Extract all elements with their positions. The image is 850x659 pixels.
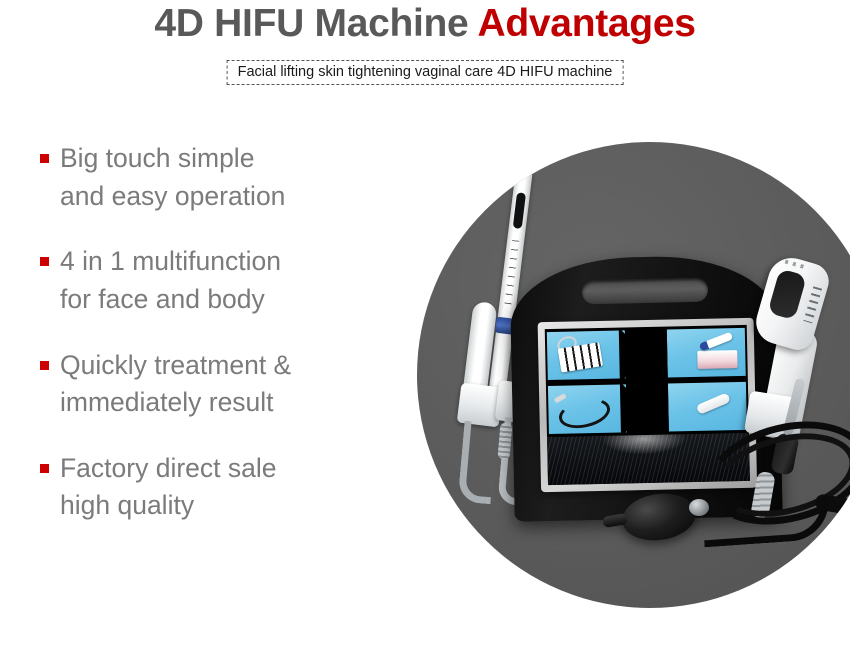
screen-panel-bottom-left xyxy=(548,384,627,434)
square-bullet-icon xyxy=(40,154,49,163)
chevron-right-icon xyxy=(641,327,668,384)
list-item: Big touch simple and easy operation xyxy=(40,140,410,215)
cartridges-thumbnail xyxy=(558,342,603,372)
product-advantages-banner: 4D HIFU Machine Advantages Facial liftin… xyxy=(0,0,850,659)
handpiece-indicator-dots xyxy=(785,260,809,270)
subtitle-text: Facial lifting skin tightening vaginal c… xyxy=(238,64,613,80)
cable-plug-icon xyxy=(554,393,567,403)
advantages-list: Big touch simple and easy operation 4 in… xyxy=(40,140,410,553)
page-title-main: 4D HIFU Machine xyxy=(154,2,477,45)
advantage-text: Factory direct sale high quality xyxy=(60,450,277,525)
handpiece-buttons xyxy=(804,286,823,323)
handpiece-case-thumbnail xyxy=(697,350,737,369)
hifu-handpiece-head xyxy=(751,252,833,353)
gray-circle-backdrop xyxy=(417,142,850,608)
list-item: 4 in 1 multifunction for face and body xyxy=(40,243,410,318)
screen-panel-bottom-right xyxy=(668,382,747,432)
advantage-text: 4 in 1 multifunction for face and body xyxy=(60,243,281,318)
page-title: 4D HIFU Machine Advantages xyxy=(0,2,850,46)
advantage-text: Big touch simple and easy operation xyxy=(60,140,285,215)
screen-panel-top-right xyxy=(667,328,746,378)
chevron-right-icon xyxy=(642,381,669,438)
square-bullet-icon xyxy=(40,257,49,266)
square-bullet-icon xyxy=(40,464,49,473)
handpiece-display xyxy=(767,268,807,320)
list-item: Quickly treatment & immediately result xyxy=(40,347,410,422)
page-title-accent: Advantages xyxy=(478,2,696,45)
screen-panel-top-left xyxy=(547,330,626,380)
probe-thumbnail xyxy=(696,392,731,415)
subtitle-banner: Facial lifting skin tightening vaginal c… xyxy=(227,60,624,85)
advantage-text: Quickly treatment & immediately result xyxy=(60,347,291,422)
product-photo xyxy=(395,140,850,633)
power-cable-thumbnail xyxy=(556,394,613,433)
probe-window xyxy=(513,192,526,229)
probe-scale-marks xyxy=(504,240,519,306)
pump-cord xyxy=(702,498,832,548)
handpiece-thumbnail xyxy=(699,332,734,352)
carry-handle-icon xyxy=(582,278,708,305)
square-bullet-icon xyxy=(40,361,49,370)
pump-valve xyxy=(689,499,709,516)
probe-cable-left xyxy=(458,421,498,505)
list-item: Factory direct sale high quality xyxy=(40,450,410,525)
